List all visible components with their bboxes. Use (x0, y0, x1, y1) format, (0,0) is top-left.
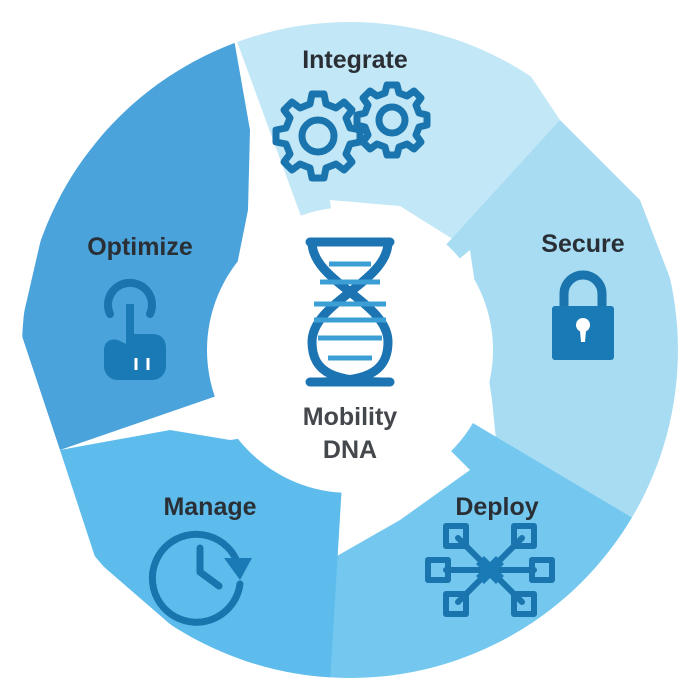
segment-label-secure: Secure (541, 230, 624, 258)
diagram-canvas: Mobility DNA Integrate Secure Deploy (0, 0, 700, 700)
center-label-line1: Mobility (303, 403, 398, 431)
segment-label-integrate: Integrate (302, 46, 408, 74)
segment-label-optimize: Optimize (87, 233, 193, 261)
center-label-line2: DNA (323, 436, 377, 464)
segment-label-deploy: Deploy (455, 493, 538, 521)
mobility-dna-wheel: Mobility DNA Integrate Secure Deploy (0, 0, 700, 700)
segment-label-manage: Manage (163, 493, 256, 521)
